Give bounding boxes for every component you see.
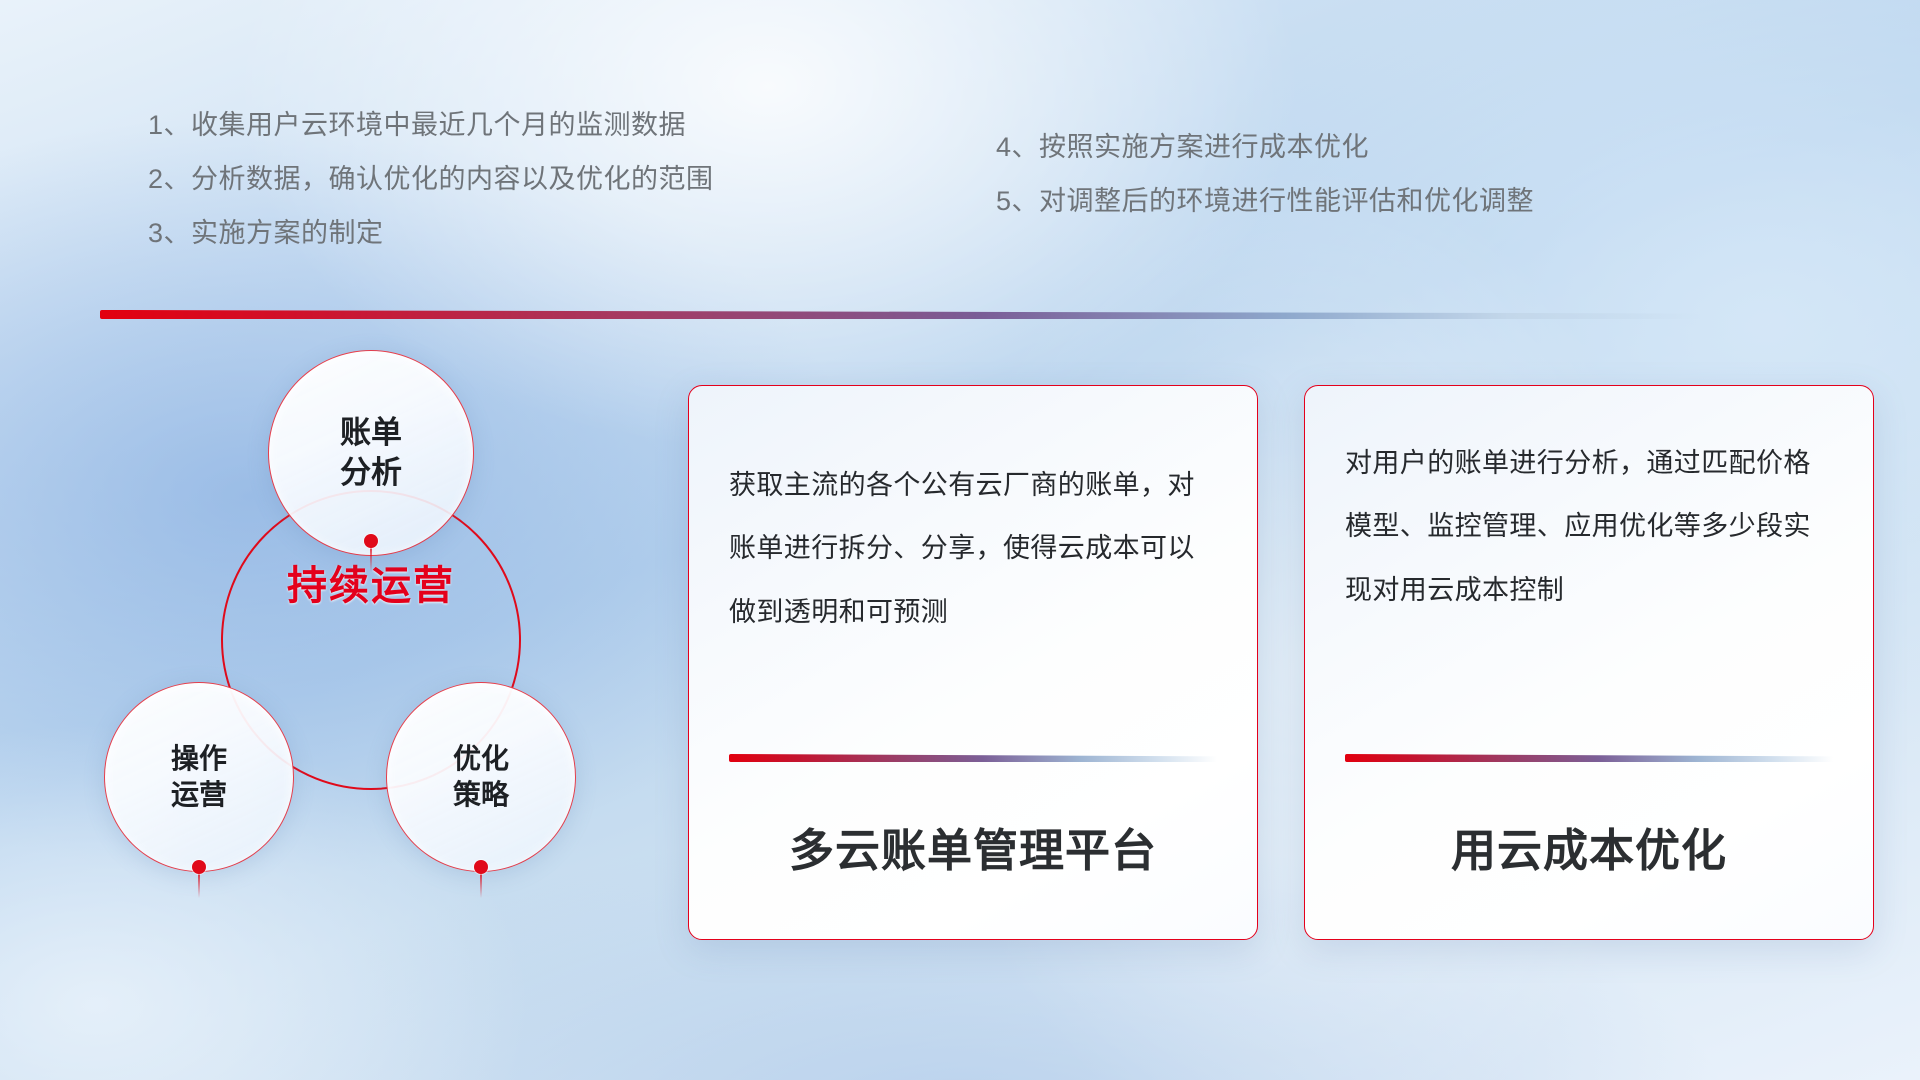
bubble-bill-analysis[interactable]: 账单 分析 [268,350,474,556]
card-body-text: 对用户的账单进行分析，通过匹配价格模型、监控管理、应用优化等多少段实现对用云成本… [1345,432,1833,622]
step-item-3: 3、实施方案的制定 [148,206,868,260]
connector-dot-top [364,534,378,548]
step-item-1: 1、收集用户云环境中最近几个月的监测数据 [148,98,868,152]
section-divider-rule [100,310,1700,319]
card-divider [1345,754,1833,762]
bubble-label-line1: 操作 [171,743,227,774]
connector-dot-right [474,860,488,874]
bubble-optimization-policy[interactable]: 优化 策略 [386,682,576,872]
bubble-label-line1: 优化 [453,743,509,774]
card-cloud-cost-optimization[interactable]: 对用户的账单进行分析，通过匹配价格模型、监控管理、应用优化等多少段实现对用云成本… [1304,385,1874,940]
step-item-4: 4、按照实施方案进行成本优化 [996,120,1736,174]
bubble-label: 账单 分析 [340,413,402,492]
card-body-text: 获取主流的各个公有云厂商的账单，对账单进行拆分、分享，使得云成本可以做到透明和可… [729,454,1217,644]
bubble-operation[interactable]: 操作 运营 [104,682,294,872]
step-item-2: 2、分析数据，确认优化的内容以及优化的范围 [148,152,868,206]
step-item-5: 5、对调整后的环境进行性能评估和优化调整 [996,174,1736,228]
bubble-label-line2: 运营 [171,779,227,810]
connector-tail-top [370,546,372,572]
card-divider [729,754,1217,762]
bubble-label: 操作 运营 [171,741,227,813]
card-title: 用云成本优化 [1345,762,1833,939]
bubble-label-line1: 账单 [340,415,402,450]
steps-list-right: 4、按照实施方案进行成本优化 5、对调整后的环境进行性能评估和优化调整 [996,120,1736,228]
bubble-label-line2: 策略 [453,779,509,810]
steps-list-left: 1、收集用户云环境中最近几个月的监测数据 2、分析数据，确认优化的内容以及优化的… [148,98,868,260]
bubble-label-line2: 分析 [340,455,402,490]
venn-diagram: 持续运营 账单 分析 操作 运营 优化 策略 [96,350,656,910]
slide-stage: 1、收集用户云环境中最近几个月的监测数据 2、分析数据，确认优化的内容以及优化的… [0,0,1920,1080]
card-multi-cloud-bill-platform[interactable]: 获取主流的各个公有云厂商的账单，对账单进行拆分、分享，使得云成本可以做到透明和可… [688,385,1258,940]
connector-tail-left [198,872,200,898]
connector-dot-left [192,860,206,874]
card-title: 多云账单管理平台 [729,762,1217,939]
connector-tail-right [480,872,482,898]
bubble-label: 优化 策略 [453,741,509,813]
